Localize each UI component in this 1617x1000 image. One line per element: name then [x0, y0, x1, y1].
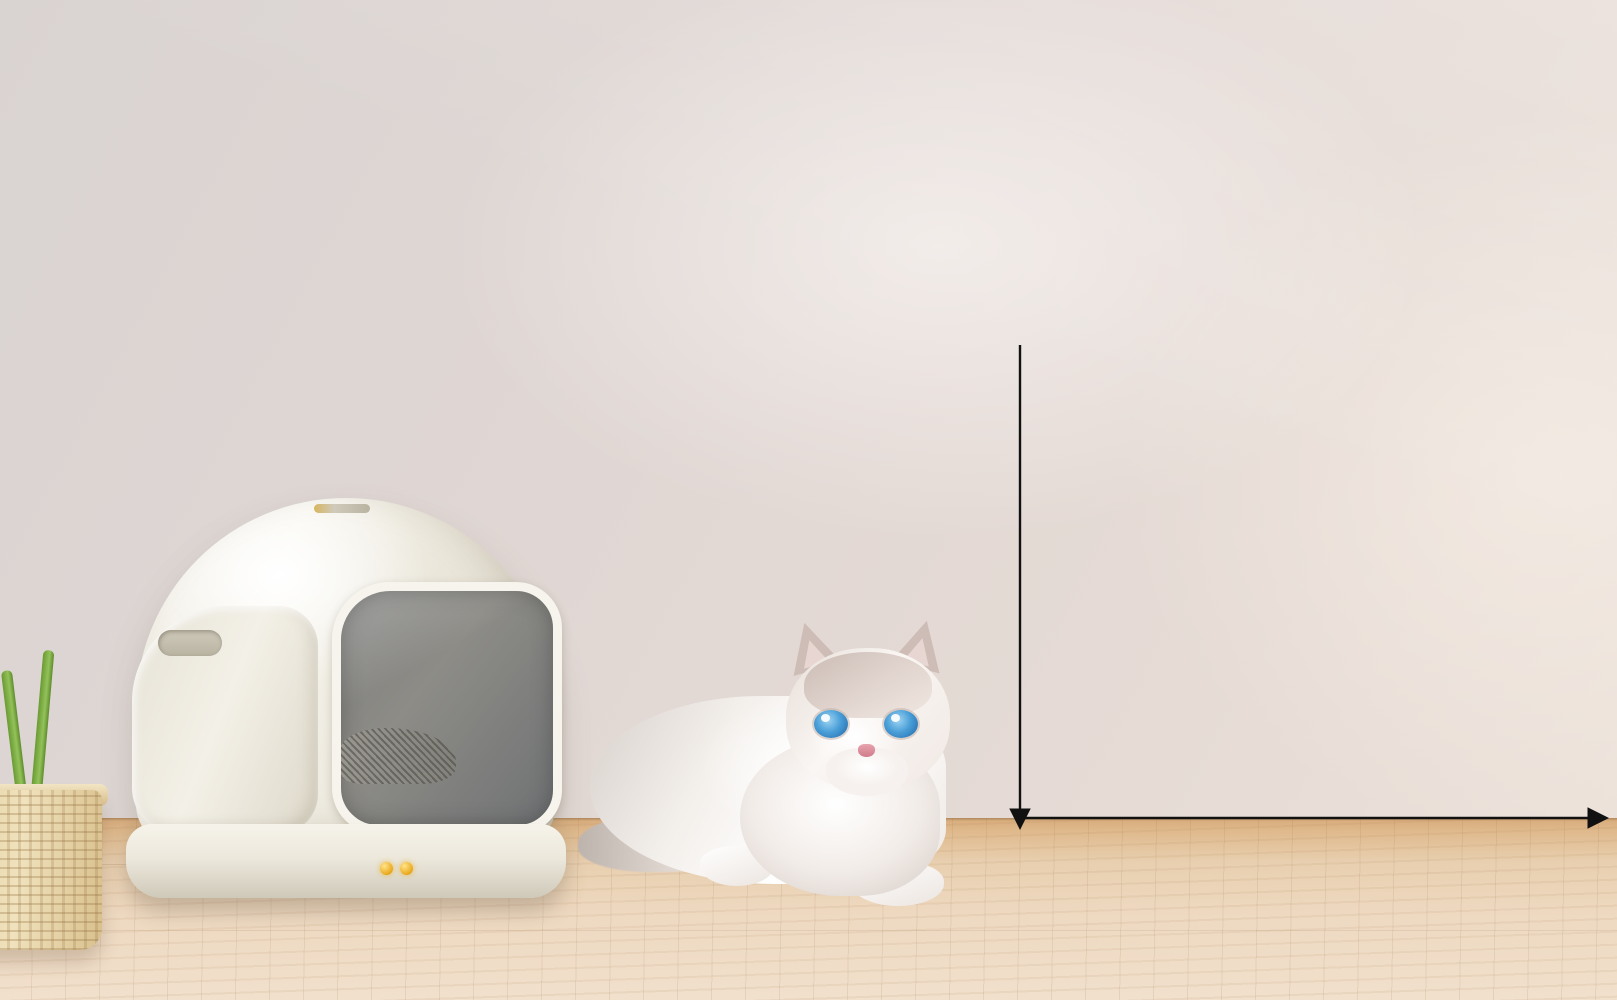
status-led-indicator	[380, 862, 393, 875]
cat-eye-right	[884, 710, 918, 738]
litter-box-top-vent	[314, 504, 370, 513]
headline-block	[338, 52, 1298, 83]
cat-eye-left	[814, 710, 848, 738]
promo-banner	[0, 0, 1617, 1000]
litter-box-window-frame	[332, 582, 562, 834]
wicker-basket-planter	[0, 790, 102, 950]
litter-box-base	[126, 824, 566, 898]
cat-nose	[858, 744, 875, 757]
ragdoll-cat	[590, 618, 990, 918]
floor-plank-line	[0, 930, 1617, 931]
cat-face-mask-marking	[804, 652, 932, 718]
litter-box-handle[interactable]	[158, 630, 222, 656]
automatic-litter-box[interactable]	[118, 488, 570, 908]
status-led-indicator	[400, 862, 413, 875]
